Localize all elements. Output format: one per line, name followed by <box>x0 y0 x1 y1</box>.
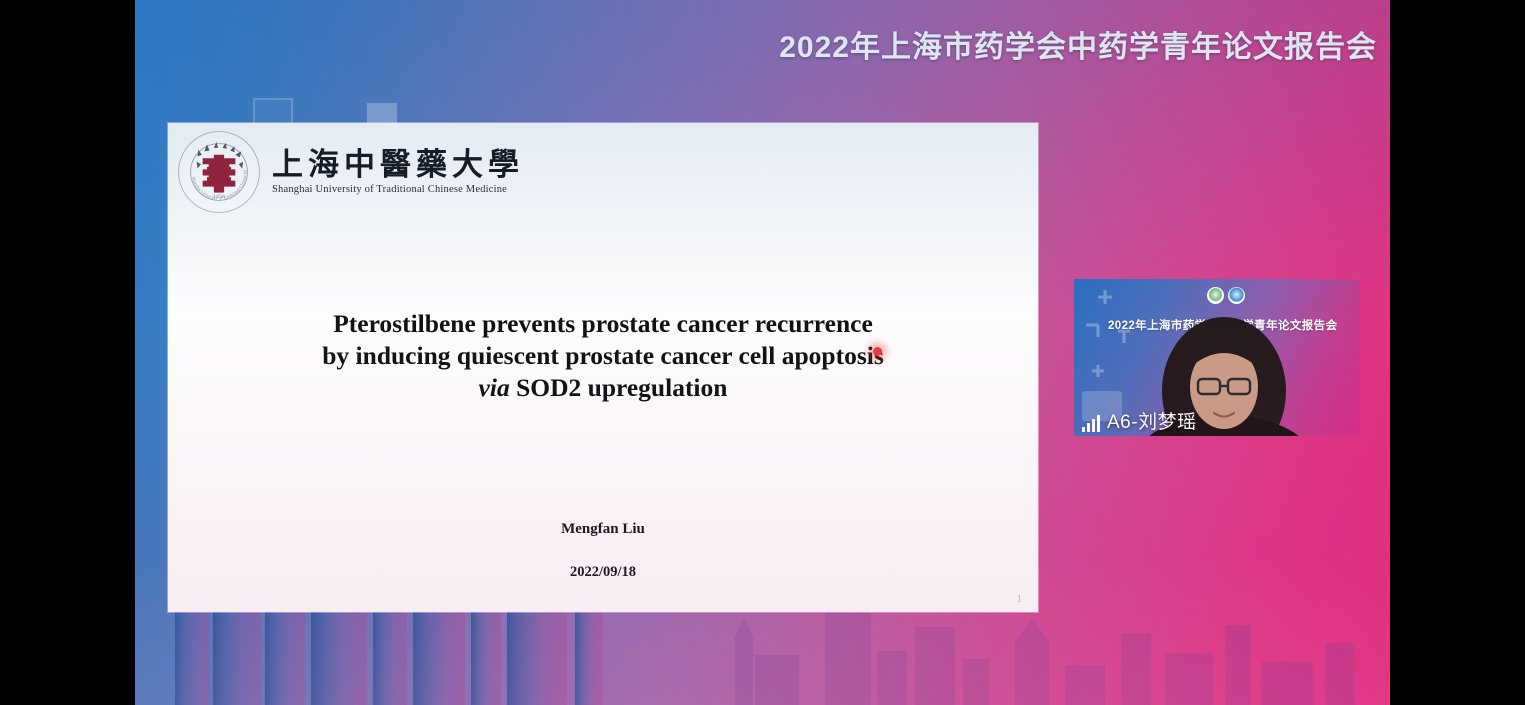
institution-name-block: 上海中醫藥大學 Shanghai University of Tradition… <box>272 149 524 195</box>
signal-bars-icon <box>1082 416 1100 432</box>
slide-title-line-1: Pterostilbene prevents prostate cancer r… <box>168 308 1038 340</box>
slide-title: Pterostilbene prevents prostate cancer r… <box>168 308 1038 404</box>
participant-video-tile[interactable]: 2022年上海市药学会中药学青年论文报告会 <box>1074 279 1360 436</box>
institution-name-cn: 上海中醫藥大學 <box>272 149 524 182</box>
presentation-canvas: 2022年上海市药学会中药学青年论文报告会 <box>135 0 1390 705</box>
slide-page-number: 1 <box>1017 593 1023 605</box>
slide-title-line-2: by inducing quiescent prostate cancer ce… <box>168 340 1038 372</box>
slide-title-sod2: SOD2 upregulation <box>510 373 728 402</box>
university-crest-icon: 1956 Shanghai University of Traditional … <box>176 129 262 215</box>
participant-label: A6-刘梦瑶 <box>1078 412 1201 433</box>
slide-author: Mengfan Liu <box>168 521 1038 538</box>
laser-pointer-dot <box>873 347 882 356</box>
participant-name: A6-刘梦瑶 <box>1107 413 1197 432</box>
institution-name-en: Shanghai University of Traditional Chine… <box>272 184 524 195</box>
screen-root: 2022年上海市药学会中药学青年论文报告会 <box>0 0 1525 705</box>
slide-date: 2022/09/18 <box>168 564 1038 581</box>
presentation-slide[interactable]: 1956 Shanghai University of Traditional … <box>168 123 1038 612</box>
slide-title-via: via <box>479 373 510 402</box>
institution-logo: 1956 Shanghai University of Traditional … <box>176 129 524 215</box>
slide-title-line-3: via SOD2 upregulation <box>168 372 1038 404</box>
event-header-title: 2022年上海市药学会中药学青年论文报告会 <box>779 22 1377 66</box>
